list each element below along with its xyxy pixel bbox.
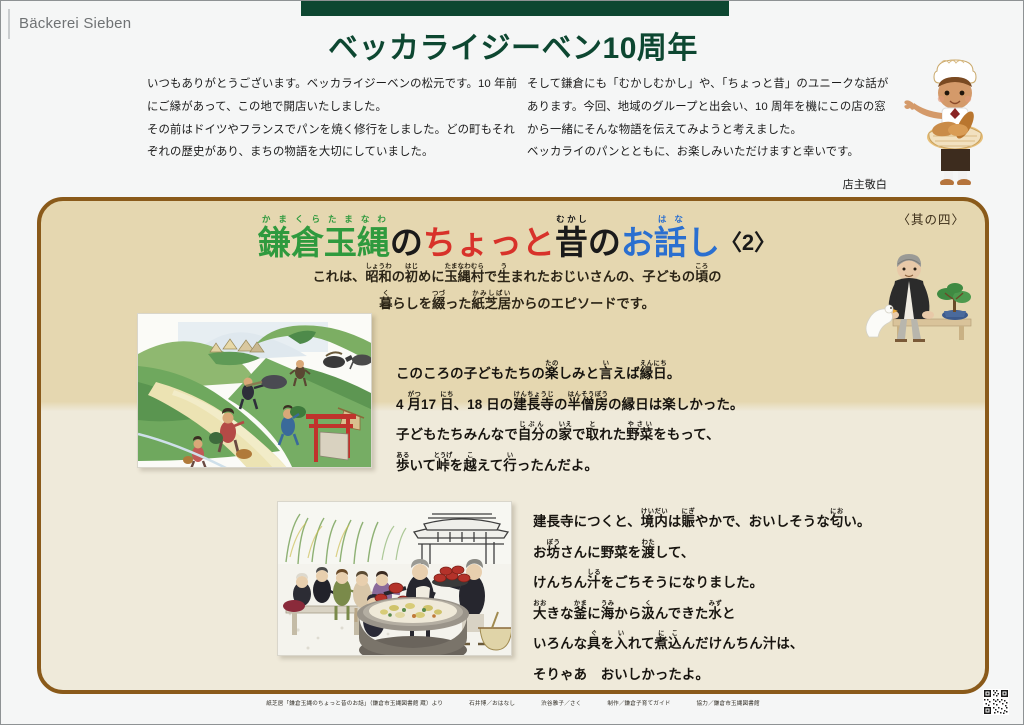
s-seg: いろんな xyxy=(533,636,587,651)
s-ruby: にお xyxy=(830,508,844,515)
title-ruby-2: むかし xyxy=(555,214,588,224)
s-ruby: がつ xyxy=(407,391,421,398)
sub-seg: 玉縄村 xyxy=(444,269,484,284)
s-ruby: く xyxy=(641,600,655,607)
greeting-line: ぞれの歴史があり、まちの物語を大切にしていました。 xyxy=(147,141,503,164)
sub-ruby: たまなわむら xyxy=(444,263,484,270)
s-seg: 水 xyxy=(708,606,722,621)
sub-seg: で xyxy=(484,269,497,284)
sub-ruby: く xyxy=(379,290,392,297)
s-seg: 野菜 xyxy=(626,427,653,442)
s-seg: を xyxy=(450,458,464,473)
s-ruby: じぶん xyxy=(518,421,545,428)
sub-seg: 綴 xyxy=(432,296,445,311)
s-seg: さんに野菜を xyxy=(560,545,641,560)
s-seg: に xyxy=(587,606,601,621)
s-seg: 煮込 xyxy=(655,636,682,651)
s-seg: 坊 xyxy=(547,545,561,560)
sub-seg: 暮 xyxy=(379,296,392,311)
s-ruby: ぐ xyxy=(587,630,601,637)
sub-ruby: はじ xyxy=(405,263,418,270)
story-text-block-2: 建長寺につくと、境内けいだいは賑にぎやかで、おいしそうな匂におい。 お坊ぼうさん… xyxy=(533,507,871,690)
footer-credit-1: 石井博／おはなし xyxy=(469,701,515,707)
s-seg: しみと xyxy=(559,366,600,381)
s-ruby: しる xyxy=(587,569,601,576)
s-ruby: いえ xyxy=(559,421,573,428)
s-seg: 行 xyxy=(503,458,517,473)
s-ruby: い xyxy=(614,630,628,637)
title-part-shi: し xyxy=(687,224,720,261)
s-ruby: はんそうぼう xyxy=(568,391,609,398)
story2-line-2: お坊ぼうさんに野菜を渡わたして、 xyxy=(533,538,871,569)
footer-credit-4: 協力／鎌倉市玉縄図書館 xyxy=(697,701,760,707)
s-ruby: えんにち xyxy=(640,360,667,367)
s-seg: 半僧房 xyxy=(568,397,609,412)
s-ruby: い xyxy=(599,360,613,367)
s-seg: で xyxy=(572,427,586,442)
story-text-block-1: このころの子どもたちの楽たのしみと言いえば縁日えんにち。 4 月がつ17 日にち… xyxy=(396,359,744,481)
title-part-kamakura-tamanawa: 鎌倉玉縄 xyxy=(258,224,390,261)
s-seg: 越 xyxy=(463,458,477,473)
sub-seg: の xyxy=(392,269,405,284)
story2-line-5: いろんな具ぐを入いれて煮込にこんだけんちん汁は、 xyxy=(533,629,871,660)
s-seg: 楽 xyxy=(545,366,559,381)
sub-seg: 初 xyxy=(405,269,418,284)
greeting-line: いつもありがとうございます。ベッカライジーベンの松元です。10 年前 xyxy=(147,73,503,96)
story2-line-1: 建長寺につくと、境内けいだいは賑にぎやかで、おいしそうな匂におい。 xyxy=(533,507,871,538)
title-part-number: 〈2〉 xyxy=(720,230,776,255)
illustration-temple-soup xyxy=(277,501,512,656)
s-seg: 日 xyxy=(440,397,454,412)
sub-ruby: しょうわ xyxy=(365,263,391,270)
greeting-line: から一緒にそんな物語を伝えてみようと考えました。 xyxy=(527,119,887,142)
s-seg: れた xyxy=(599,427,626,442)
header-green-bar xyxy=(301,1,729,16)
sub-seg: からのエピソードです。 xyxy=(511,296,655,311)
s-seg: 大 xyxy=(533,606,547,621)
greeting-line: あります。今回、地域のグループと出会い、10 周年を機にこの店の窓 xyxy=(527,96,887,119)
s-seg: 海 xyxy=(601,606,615,621)
s-seg: 月 xyxy=(407,397,421,412)
s-ruby: けいだい xyxy=(641,508,668,515)
title-part-no-2: の xyxy=(588,224,621,261)
s-seg: 渡 xyxy=(641,545,655,560)
s-seg: は xyxy=(668,514,682,529)
s-seg: 匂 xyxy=(830,514,844,529)
s-ruby: と xyxy=(586,421,600,428)
title-ruby-1: かまくらたまなわ xyxy=(258,214,390,224)
title-part-no-1: の xyxy=(390,224,423,261)
s-ruby: わた xyxy=(641,539,655,546)
s-ruby: にこ xyxy=(655,630,682,637)
s-seg: 歩 xyxy=(396,458,410,473)
illustration-mountain-path xyxy=(137,313,372,468)
sub-seg: これは、 xyxy=(313,269,366,284)
s-ruby: こ xyxy=(463,452,477,459)
title-part-hanashi: 話 xyxy=(654,224,687,261)
s-ruby: にち xyxy=(440,391,454,398)
s-ruby: けんちょうじ xyxy=(513,391,554,398)
footer-credit-3: 制作／鎌倉子育てガイド xyxy=(607,701,670,707)
s-ruby: にぎ xyxy=(681,508,695,515)
sub-ruby: ころ xyxy=(695,263,708,270)
s-seg: そりゃあ おいしかったよ。 xyxy=(533,667,709,682)
s-seg: の縁日は楽しかった。 xyxy=(608,397,743,412)
s-seg: の xyxy=(554,397,568,412)
title-part-mukashi: 昔 xyxy=(555,224,588,261)
s-seg: い。 xyxy=(843,514,870,529)
s-seg: 家 xyxy=(559,427,573,442)
s-ruby: たの xyxy=(545,360,559,367)
baker-mascot-illustration xyxy=(901,53,1009,185)
sub-seg: まれたおじいさんの、子どもの xyxy=(510,269,695,284)
s-seg: 17 xyxy=(421,397,440,412)
s-seg: 子どもたちみんなで xyxy=(396,427,518,442)
s-ruby: うみ xyxy=(601,600,615,607)
greeting-left-column: いつもありがとうございます。ベッカライジーベンの松元です。10 年前 にご縁があ… xyxy=(147,73,503,164)
s-seg: んだけんちん汁は、 xyxy=(682,636,804,651)
title-part-chotto: ちょっと xyxy=(423,224,555,261)
sub-seg: 生 xyxy=(497,269,510,284)
sub-seg: 頃 xyxy=(695,269,708,284)
s-seg: をもって、 xyxy=(653,427,719,442)
story1-line-2: 4 月がつ17 日にち、18 日の建長寺けんちょうじの半僧房はんそうぼうの縁日は… xyxy=(396,390,744,421)
s-ruby: ある xyxy=(396,452,410,459)
sub-seg: の xyxy=(708,269,721,284)
footer-credit-2: 渋谷雅子／さく xyxy=(541,701,581,707)
s-seg: 汁 xyxy=(587,575,601,590)
s-seg: けんちん xyxy=(533,575,587,590)
sub-seg: 紙芝居 xyxy=(472,296,512,311)
greeting-line: その前はドイツやフランスでパンを焼く修行をしました。どの町もそれ xyxy=(147,119,503,142)
s-seg: をごちそうになりました。 xyxy=(601,575,764,590)
s-seg: 言 xyxy=(599,366,613,381)
s-seg: 具 xyxy=(587,636,601,651)
story2-line-4: 大おおきな釜かまに海うみから汲くんできた水みずと xyxy=(533,599,871,630)
story1-line-4: 歩あるいて峠とうげを越こえて行いったんだよ。 xyxy=(396,451,744,482)
s-seg: えば xyxy=(613,366,640,381)
s-seg: して、 xyxy=(655,545,695,560)
s-seg: お xyxy=(533,545,547,560)
s-ruby: みず xyxy=(708,600,722,607)
greeting-line: にご縁があって、この地で開店いたしました。 xyxy=(147,96,503,119)
s-seg: いて xyxy=(410,458,437,473)
s-seg: 。 xyxy=(667,366,681,381)
s-ruby: い xyxy=(503,452,517,459)
s-seg: 境内 xyxy=(641,514,668,529)
story2-line-6: そりゃあ おいしかったよ。 xyxy=(533,660,871,691)
greeting-signature: 店主敬白 xyxy=(527,174,887,196)
s-seg: やかで、おいしそうな xyxy=(695,514,830,529)
title-ruby-3: はな xyxy=(654,214,687,224)
ojiisan-illustration xyxy=(831,247,989,343)
s-seg: 縁日 xyxy=(640,366,667,381)
s-seg: 取 xyxy=(586,427,600,442)
s-seg: えて xyxy=(477,458,503,473)
s-ruby: やさい xyxy=(626,421,653,428)
story-panel: 〈其の四〉 鎌倉玉縄かまくらたまなわのちょっと昔むかしのお話はなし〈2〉 これは… xyxy=(37,197,989,694)
sub-ruby: かみしばい xyxy=(472,290,512,297)
page-headline: ベッカライジーベン10周年 xyxy=(1,23,1024,67)
title-part-o: お xyxy=(621,224,654,261)
s-seg: れて xyxy=(628,636,655,651)
s-seg: ったんだよ。 xyxy=(517,458,598,473)
s-seg: から xyxy=(614,606,641,621)
sub-seg: らしを xyxy=(392,296,432,311)
greeting-line: そして鎌倉にも「むかしむかし」や、「ちょっと昔」のユニークな話が xyxy=(527,73,887,96)
s-ruby: とうげ xyxy=(434,452,453,459)
greeting-right-column: そして鎌倉にも「むかしむかし」や、「ちょっと昔」のユニークな話が あります。今回… xyxy=(527,73,887,196)
s-ruby: おお xyxy=(533,600,547,607)
s-seg: 、18 日の xyxy=(454,397,514,412)
poster-page: Bäckerei Sieben ベッカライジーベン10周年 いつもありがとうござ… xyxy=(0,0,1024,725)
s-seg: 賑 xyxy=(681,514,695,529)
footer-credits: 紙芝居「鎌倉玉縄のちょっと昔のお話」（鎌倉市玉縄図書館 蔵）より石井博／おはなし… xyxy=(1,699,1024,707)
s-seg: 建長寺につくと、 xyxy=(533,514,641,529)
sub-seg: 昭和 xyxy=(365,269,391,284)
story1-line-1: このころの子どもたちの楽たのしみと言いえば縁日えんにち。 xyxy=(396,359,744,390)
sub-ruby: つづ xyxy=(432,290,445,297)
s-seg: 入 xyxy=(614,636,628,651)
s-seg: 自分 xyxy=(518,427,545,442)
s-seg: 釜 xyxy=(574,606,588,621)
sub-seg: った xyxy=(445,296,471,311)
s-seg: の xyxy=(545,427,559,442)
s-seg: 汲 xyxy=(641,606,655,621)
s-seg: このころの子どもたちの xyxy=(396,366,545,381)
s-ruby: ぼう xyxy=(547,539,561,546)
s-seg: を xyxy=(601,636,615,651)
story2-line-3: けんちん汁しるをごちそうになりました。 xyxy=(533,568,871,599)
s-seg: 4 xyxy=(396,397,407,412)
s-seg: と xyxy=(722,606,736,621)
qr-code[interactable] xyxy=(983,689,1009,715)
sub-ruby: う xyxy=(497,263,510,270)
footer-source: 紙芝居「鎌倉玉縄のちょっと昔のお話」（鎌倉市玉縄図書館 蔵）より xyxy=(266,701,443,707)
sub-seg: めに xyxy=(418,269,444,284)
s-seg: 建長寺 xyxy=(513,397,554,412)
story1-line-3: 子どもたちみんなで自分じぶんの家いえで取とれた野菜やさいをもって、 xyxy=(396,420,744,451)
s-seg: んできた xyxy=(655,606,709,621)
s-seg: きな xyxy=(547,606,574,621)
greeting-line: ベッカライのパンとともに、お楽しみいただけますと幸いです。 xyxy=(527,141,887,164)
s-ruby: かま xyxy=(574,600,588,607)
